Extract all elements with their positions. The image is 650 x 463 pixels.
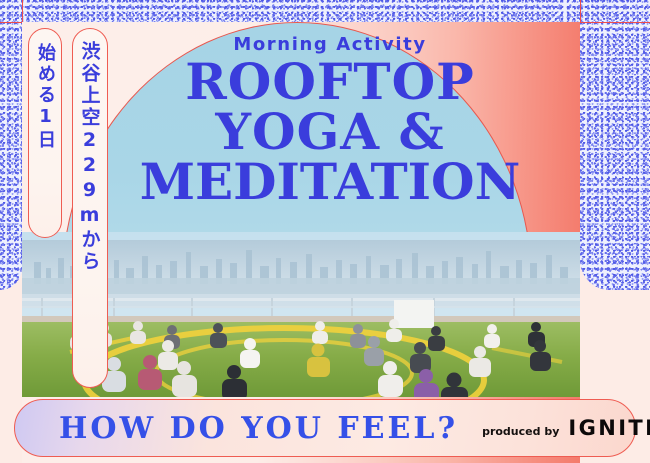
noise-texture-left xyxy=(0,22,22,290)
noise-texture-right xyxy=(580,22,650,290)
producer-credit: produced by IGNITE yoga xyxy=(482,416,650,440)
vertical-label-start-day: 始める1日 xyxy=(28,28,62,238)
frame-hairline-right xyxy=(580,0,581,22)
poster-canvas: 始める1日 渋谷上空229mから Morning Activity ROOFTO… xyxy=(0,0,650,463)
produced-by-label: produced by xyxy=(482,425,559,438)
slogan-text: HOW DO YOU FEEL? xyxy=(59,411,458,446)
frame-hairline-left xyxy=(22,0,23,22)
vertical-label-shibuya-altitude: 渋谷上空229mから xyxy=(72,28,108,388)
vertical-label-start-day-text: 始める1日 xyxy=(32,43,58,151)
vertical-label-shibuya-altitude-text: 渋谷上空229mから xyxy=(77,41,104,273)
bottom-bar: HOW DO YOU FEEL? produced by IGNITE yoga xyxy=(14,399,636,457)
noise-texture-top xyxy=(0,0,650,22)
brand-name-ignite: IGNITE xyxy=(568,416,650,440)
